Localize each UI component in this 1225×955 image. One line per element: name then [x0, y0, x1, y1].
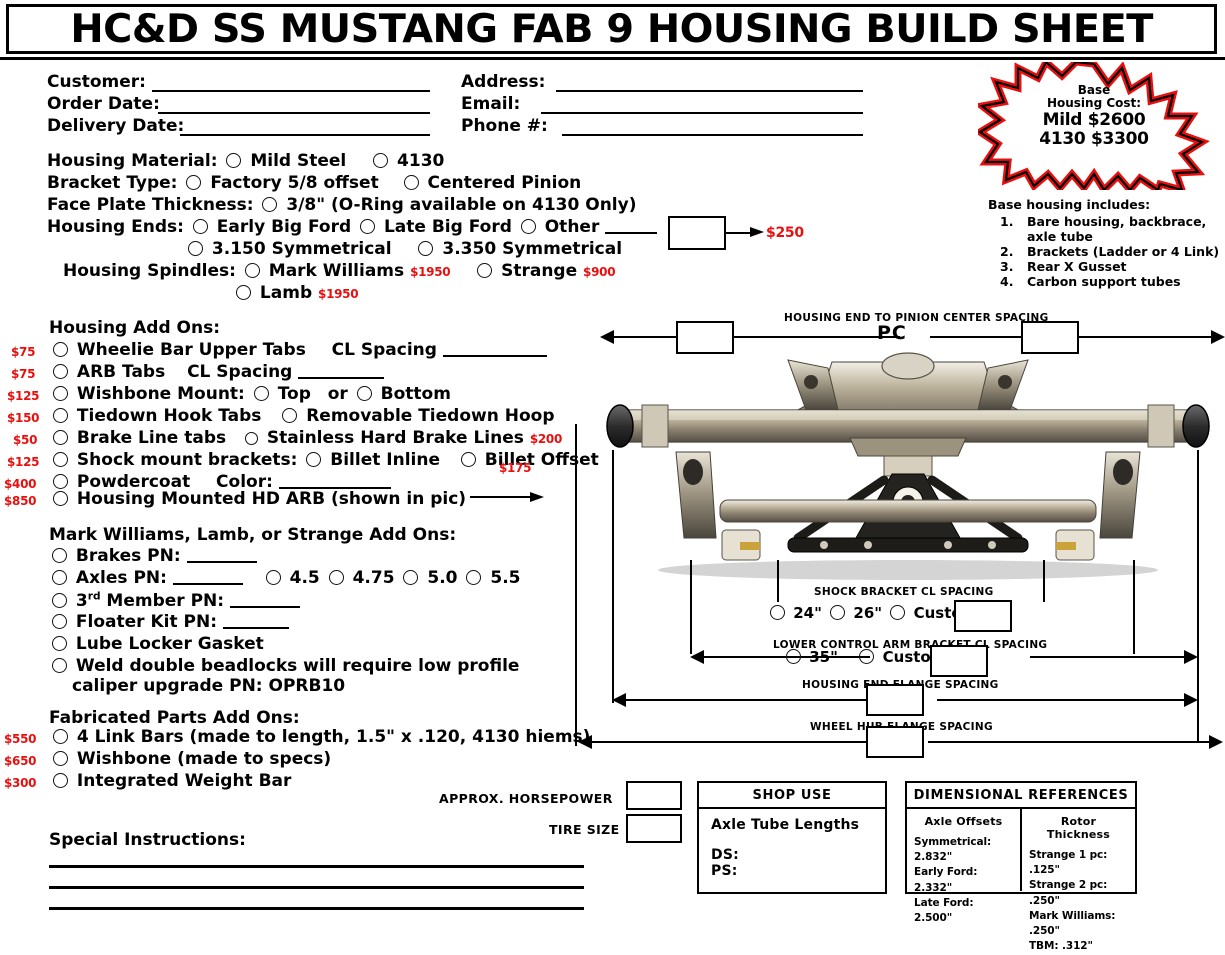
order-date-input[interactable]	[158, 112, 430, 114]
option-strange: Strange	[501, 261, 577, 281]
other-end-input[interactable]	[605, 218, 657, 234]
hd-arb-arrowhead-icon	[530, 489, 546, 505]
price-lamb: $1950	[318, 287, 358, 301]
label-wishbone-bottom: Bottom	[381, 384, 451, 404]
face-plate-row: Face Plate Thickness: 3/8" (O-Ring avail…	[47, 195, 636, 215]
option-face-plate-38: 3/8" (O-Ring available on 4130 Only)	[286, 195, 636, 215]
label-shock-26: 26"	[853, 604, 882, 622]
radio-floater-kit-pn[interactable]	[52, 614, 67, 629]
option-3150-symmetrical: 3.150 Symmetrical	[212, 239, 392, 259]
label-integrated-weight-bar: Integrated Weight Bar	[77, 771, 291, 791]
option-mild-steel: Mild Steel	[250, 151, 346, 171]
option-early-big-ford: Early Big Ford	[217, 217, 351, 237]
input-axles-pn[interactable]	[173, 569, 243, 585]
price-shock-brackets: $125	[7, 455, 39, 469]
starburst-line3: Mild $2600	[978, 111, 1210, 130]
price-weight-bar: $300	[4, 776, 36, 790]
special-instructions-line-2[interactable]	[49, 886, 584, 889]
starburst-line1: Base	[978, 84, 1210, 97]
radio-third-member-pn[interactable]	[52, 593, 67, 608]
label-floater-kit-pn: Floater Kit PN:	[76, 612, 217, 632]
row-floater-kit-pn: Floater Kit PN:	[49, 612, 289, 632]
housing-end-flange-input[interactable]	[866, 684, 924, 716]
dimensional-references-table: DIMENSIONAL REFERENCES Axle Offsets Symm…	[905, 781, 1137, 894]
shock-bracket-label: SHOCK BRACKET CL SPACING	[814, 586, 994, 598]
phone-input[interactable]	[562, 134, 863, 136]
price-billet-offset: $175	[499, 461, 531, 475]
dimensional-references-body: Axle Offsets Symmetrical: 2.832" Early F…	[907, 809, 1135, 891]
option-4130: 4130	[397, 151, 444, 171]
option-other-end: Other	[545, 217, 600, 237]
starburst-line4: 4130 $3300	[978, 130, 1210, 149]
input-third-member-pn[interactable]	[230, 592, 300, 608]
radio-fab-wishbone[interactable]	[53, 751, 68, 766]
customer-input[interactable]	[152, 90, 430, 92]
radio-mild-steel[interactable]	[226, 153, 241, 168]
row-weld-beadlocks: Weld double beadlocks will require low p…	[49, 656, 519, 676]
rotor-thickness-row-4: TBM: .312"	[1029, 939, 1128, 954]
shop-use-header: SHOP USE	[699, 783, 885, 809]
shop-use-body: Axle Tube Lengths DS: PS:	[699, 809, 885, 887]
radio-early-big-ford[interactable]	[193, 219, 208, 234]
axle-housing-photo	[592, 352, 1224, 584]
leader-line-left	[777, 560, 779, 602]
radio-bolt-50[interactable]	[403, 570, 418, 585]
row-4-link-bars: 4 Link Bars (made to length, 1.5" x .120…	[50, 727, 590, 747]
row-wheelie-bar: Wheelie Bar Upper Tabs CL Spacing	[50, 340, 547, 360]
rotor-thickness-row-3: Mark Williams: .250"	[1029, 909, 1128, 939]
housing-material-label: Housing Material:	[47, 151, 218, 171]
wheel-hub-flange-input[interactable]	[866, 726, 924, 758]
housing-end-pinion-left-input[interactable]	[676, 321, 734, 354]
radio-billet-offset[interactable]	[461, 452, 476, 467]
label-third-member-pn: 3rd Member PN:	[76, 591, 224, 611]
label-wheelie-cl: CL Spacing	[332, 340, 437, 360]
starburst-line2: Housing Cost:	[978, 97, 1210, 110]
radio-shock-mount-brackets[interactable]	[53, 452, 68, 467]
row-hd-arb: Housing Mounted HD ARB (shown in pic)	[50, 489, 466, 509]
radio-bolt-475[interactable]	[329, 570, 344, 585]
special-instructions-line-1[interactable]	[49, 865, 584, 868]
order-date-label: Order Date:	[47, 94, 160, 114]
radio-bolt-55[interactable]	[466, 570, 481, 585]
base-cost-starburst: Base Housing Cost: Mild $2600 4130 $3300	[978, 62, 1210, 190]
fab-addons-title: Fabricated Parts Add Ons:	[49, 708, 300, 728]
axle-offsets-title: Axle Offsets	[914, 815, 1013, 828]
option-factory-offset: Factory 5/8 offset	[210, 173, 378, 193]
label-wishbone-top: Top	[278, 384, 311, 404]
housing-end-pinion-right-input[interactable]	[1021, 321, 1079, 354]
row-wishbone-mount: Wishbone Mount: Top or Bottom	[50, 384, 451, 404]
radio-mark-williams[interactable]	[245, 263, 260, 278]
starburst-text: Base Housing Cost: Mild $2600 4130 $3300	[978, 84, 1210, 149]
axle-offsets-row-3: Late Ford: 2.500"	[914, 896, 1013, 926]
bracket-type-row: Bracket Type: Factory 5/8 offset Centere…	[47, 173, 581, 193]
radio-lamb[interactable]	[236, 285, 251, 300]
label-bolt-475: 4.75	[353, 568, 395, 588]
input-brakes-pn[interactable]	[187, 547, 257, 563]
label-lube-locker-gasket: Lube Locker Gasket	[76, 634, 264, 654]
rotor-thickness-row-1: Strange 1 pc: .125"	[1029, 848, 1128, 878]
label-fab-wishbone: Wishbone (made to specs)	[77, 749, 331, 769]
radio-shock-custom[interactable]	[890, 605, 905, 620]
customer-label: Customer:	[47, 72, 146, 92]
axle-offsets-column: Axle Offsets Symmetrical: 2.832" Early F…	[907, 809, 1020, 891]
radio-arb-tabs[interactable]	[53, 364, 68, 379]
housing-ends-row: Housing Ends: Early Big Ford Late Big Fo…	[47, 217, 657, 237]
price-stainless-brake-lines: $200	[530, 432, 562, 446]
radio-3150-symmetrical[interactable]	[188, 241, 203, 256]
radio-wishbone-top[interactable]	[254, 386, 269, 401]
radio-centered-pinion[interactable]	[404, 175, 419, 190]
label-hd-arb: Housing Mounted HD ARB (shown in pic)	[77, 489, 466, 509]
row-fab-wishbone: Wishbone (made to specs)	[50, 749, 331, 769]
row-arb-tabs: ARB Tabs CL Spacing	[50, 362, 384, 382]
column-divider	[575, 424, 577, 746]
label-billet-inline: Billet Inline	[330, 450, 440, 470]
includes-item-1: Bare housing, backbrace,	[1027, 214, 1206, 229]
approx-horsepower-label: APPROX. HORSEPOWER	[439, 791, 613, 806]
symmetrical-row: 3.150 Symmetrical 3.350 Symmetrical	[185, 239, 622, 259]
radio-wishbone-mount[interactable]	[53, 386, 68, 401]
housing-spindles-row: Housing Spindles: Mark Williams $1950 St…	[63, 261, 615, 281]
delivery-date-label: Delivery Date:	[47, 116, 184, 136]
lower-control-arm-custom-input[interactable]	[930, 645, 988, 677]
radio-shock-26[interactable]	[830, 605, 845, 620]
radio-brakes-pn[interactable]	[52, 548, 67, 563]
mw-addons-title: Mark Williams, Lamb, or Strange Add Ons:	[49, 525, 456, 545]
radio-axles-pn[interactable]	[52, 570, 67, 585]
includes-item-1b: axle tube	[1027, 229, 1093, 244]
price-4-link-bars: $550	[4, 732, 36, 746]
radio-stainless-brake-lines[interactable]	[245, 432, 258, 445]
axle-offsets-row-1: Symmetrical: 2.832"	[914, 835, 1013, 865]
radio-late-big-ford[interactable]	[360, 219, 375, 234]
radio-face-plate-38[interactable]	[262, 197, 277, 212]
label-bolt-50: 5.0	[427, 568, 457, 588]
includes-num-2: 2.	[1000, 244, 1013, 259]
address-input[interactable]	[556, 90, 863, 92]
radio-other-end[interactable]	[521, 219, 536, 234]
rotor-thickness-row-2: Strange 2 pc: .250"	[1029, 878, 1128, 908]
radio-bolt-45[interactable]	[266, 570, 281, 585]
label-removable-tiedown-hoop: Removable Tiedown Hoop	[306, 406, 554, 426]
price-fab-wishbone: $650	[4, 754, 36, 768]
label-shock-mount-brackets: Shock mount brackets:	[77, 450, 298, 470]
price-strange: $900	[583, 265, 615, 279]
radio-hd-arb[interactable]	[53, 491, 68, 506]
shock-bracket-custom-input[interactable]	[954, 600, 1012, 632]
axle-tube-lengths-label: Axle Tube Lengths	[711, 817, 873, 833]
row-brakes-pn: Brakes PN:	[49, 546, 257, 566]
label-tiedown-hook-tabs: Tiedown Hook Tabs	[77, 406, 262, 426]
housing-addons-title: Housing Add Ons:	[49, 318, 220, 338]
label-arb-tabs: ARB Tabs	[77, 362, 165, 382]
radio-4-link-bars[interactable]	[53, 729, 68, 744]
row-lube-locker: Lube Locker Gasket	[49, 634, 264, 654]
leader-line-far-right	[1133, 560, 1135, 654]
radio-weld-beadlocks[interactable]	[52, 658, 67, 673]
housing-ends-price-box[interactable]	[668, 216, 726, 250]
radio-integrated-weight-bar[interactable]	[53, 773, 68, 788]
radio-powdercoat[interactable]	[53, 474, 68, 489]
label-4-link-bars: 4 Link Bars (made to length, 1.5" x .120…	[77, 727, 591, 747]
page-title: HC&D SS MUSTANG FAB 9 HOUSING BUILD SHEE…	[70, 7, 1152, 52]
price-powdercoat: $400	[4, 477, 36, 491]
radio-removable-tiedown-hoop[interactable]	[282, 408, 297, 423]
rotor-thickness-title: Rotor Thickness	[1029, 815, 1128, 841]
radio-brake-line-tabs[interactable]	[53, 430, 68, 445]
title-divider	[0, 57, 1225, 60]
row-tiedown: Tiedown Hook Tabs Removable Tiedown Hoop	[50, 406, 555, 426]
label-lca-35: 35"	[809, 648, 838, 666]
rotor-thickness-column: Rotor Thickness Strange 1 pc: .125" Stra…	[1020, 809, 1135, 891]
radio-lca-35[interactable]	[786, 649, 801, 664]
lamb-row: Lamb $1950	[233, 283, 358, 303]
price-arrowhead-icon	[750, 224, 766, 240]
delivery-date-input[interactable]	[180, 134, 430, 136]
email-label: Email:	[461, 94, 520, 114]
phone-label: Phone #:	[461, 116, 548, 136]
radio-4130[interactable]	[373, 153, 388, 168]
page-title-bar: HC&D SS MUSTANG FAB 9 HOUSING BUILD SHEE…	[6, 4, 1217, 54]
email-input[interactable]	[541, 112, 863, 114]
option-mark-williams: Mark Williams	[269, 261, 404, 281]
housing-ends-label: Housing Ends:	[47, 217, 184, 237]
row-axles-pn: Axles PN: 4.5 4.75 5.0 5.5	[49, 568, 520, 588]
label-weld-beadlocks: Weld double beadlocks will require low p…	[76, 656, 520, 676]
shop-use-ds[interactable]: DS:	[711, 847, 873, 863]
shop-use-table: SHOP USE Axle Tube Lengths DS: PS:	[697, 781, 887, 894]
price-tiedown: $150	[7, 411, 39, 425]
label-wishbone-mount: Wishbone Mount:	[77, 384, 245, 404]
radio-3350-symmetrical[interactable]	[418, 241, 433, 256]
includes-item-2: Brackets (Ladder or 4 Link)	[1027, 244, 1219, 259]
housing-end-pinion-label: HOUSING END TO PINION CENTER SPACING	[784, 312, 1049, 324]
radio-tiedown-hook-tabs[interactable]	[53, 408, 68, 423]
includes-num-3: 3.	[1000, 259, 1013, 274]
input-wheelie-cl-spacing[interactable]	[443, 341, 547, 357]
row-third-member-pn: 3rd Member PN:	[49, 590, 300, 611]
hd-arb-pointer-line	[470, 496, 532, 498]
includes-num-4: 4.	[1000, 274, 1013, 289]
shock-bracket-options: 24" 26" Custom	[767, 604, 977, 622]
includes-item-3: Rear X Gusset	[1027, 259, 1127, 274]
tire-size-label: TIRE SIZE	[549, 822, 620, 837]
label-wishbone-or: or	[328, 384, 348, 404]
input-floater-kit-pn[interactable]	[223, 613, 289, 629]
option-centered-pinion: Centered Pinion	[427, 173, 581, 193]
label-shock-24: 24"	[793, 604, 822, 622]
housing-material-row: Housing Material: Mild Steel 4130	[47, 151, 444, 171]
label-arb-cl: CL Spacing	[187, 362, 292, 382]
option-lamb: Lamb	[260, 283, 312, 303]
build-sheet-page: HC&D SS MUSTANG FAB 9 HOUSING BUILD SHEE…	[0, 0, 1225, 927]
bracket-type-label: Bracket Type:	[47, 173, 177, 193]
address-label: Address:	[461, 72, 545, 92]
face-plate-label: Face Plate Thickness:	[47, 195, 254, 215]
price-arb-tabs: $75	[11, 367, 35, 381]
housing-ends-price: $250	[766, 225, 804, 241]
includes-num-1: 1.	[1000, 214, 1013, 229]
label-bolt-45: 4.5	[290, 568, 320, 588]
leader-line-right	[1043, 560, 1045, 602]
price-hd-arb: $850	[4, 494, 36, 508]
special-instructions-line-3[interactable]	[49, 907, 584, 910]
label-brakes-pn: Brakes PN:	[76, 546, 181, 566]
housing-spindles-label: Housing Spindles:	[63, 261, 236, 281]
radio-billet-inline[interactable]	[306, 452, 321, 467]
label-wheelie-bar: Wheelie Bar Upper Tabs	[77, 340, 306, 360]
axle-housing-illustration	[592, 352, 1224, 584]
input-powdercoat-color[interactable]	[279, 473, 391, 489]
radio-wheelie-bar[interactable]	[53, 342, 68, 357]
radio-wishbone-bottom[interactable]	[357, 386, 372, 401]
label-brake-line-tabs: Brake Line tabs	[77, 428, 226, 448]
radio-lube-locker-gasket[interactable]	[52, 636, 67, 651]
special-instructions-label: Special Instructions:	[49, 830, 246, 850]
price-wishbone-mount: $125	[7, 389, 39, 403]
approx-horsepower-input[interactable]	[626, 781, 682, 810]
axle-offsets-row-2: Early Ford: 2.332"	[914, 865, 1013, 895]
label-axles-pn: Axles PN:	[76, 568, 167, 588]
label-bolt-55: 5.5	[490, 568, 520, 588]
radio-strange[interactable]	[477, 263, 492, 278]
row-brake-lines: Brake Line tabs Stainless Hard Brake Lin…	[50, 428, 562, 448]
shop-use-ps[interactable]: PS:	[711, 863, 873, 879]
option-late-big-ford: Late Big Ford	[384, 217, 512, 237]
leader-line-far-left	[690, 560, 692, 654]
radio-factory-offset[interactable]	[186, 175, 201, 190]
includes-item-4: Carbon support tubes	[1027, 274, 1181, 289]
tire-size-input[interactable]	[626, 814, 682, 843]
price-mark-williams: $1950	[410, 265, 450, 279]
includes-title: Base housing includes:	[988, 197, 1150, 212]
leader-line-outer-left	[612, 450, 614, 703]
input-arb-cl-spacing[interactable]	[298, 363, 384, 379]
dimensional-references-header: DIMENSIONAL REFERENCES	[907, 783, 1135, 809]
label-caliper-upgrade: caliper upgrade PN: OPRB10	[72, 676, 345, 696]
radio-shock-24[interactable]	[770, 605, 785, 620]
option-3350-symmetrical: 3.350 Symmetrical	[442, 239, 622, 259]
price-brake-line-tabs: $50	[13, 433, 37, 447]
lower-control-arm-options: 35" Custom	[783, 648, 946, 666]
radio-lca-custom[interactable]	[859, 649, 874, 664]
row-weight-bar: Integrated Weight Bar	[50, 771, 291, 791]
label-stainless-brake-lines: Stainless Hard Brake Lines	[267, 428, 524, 448]
price-wheelie-bar: $75	[11, 345, 35, 359]
